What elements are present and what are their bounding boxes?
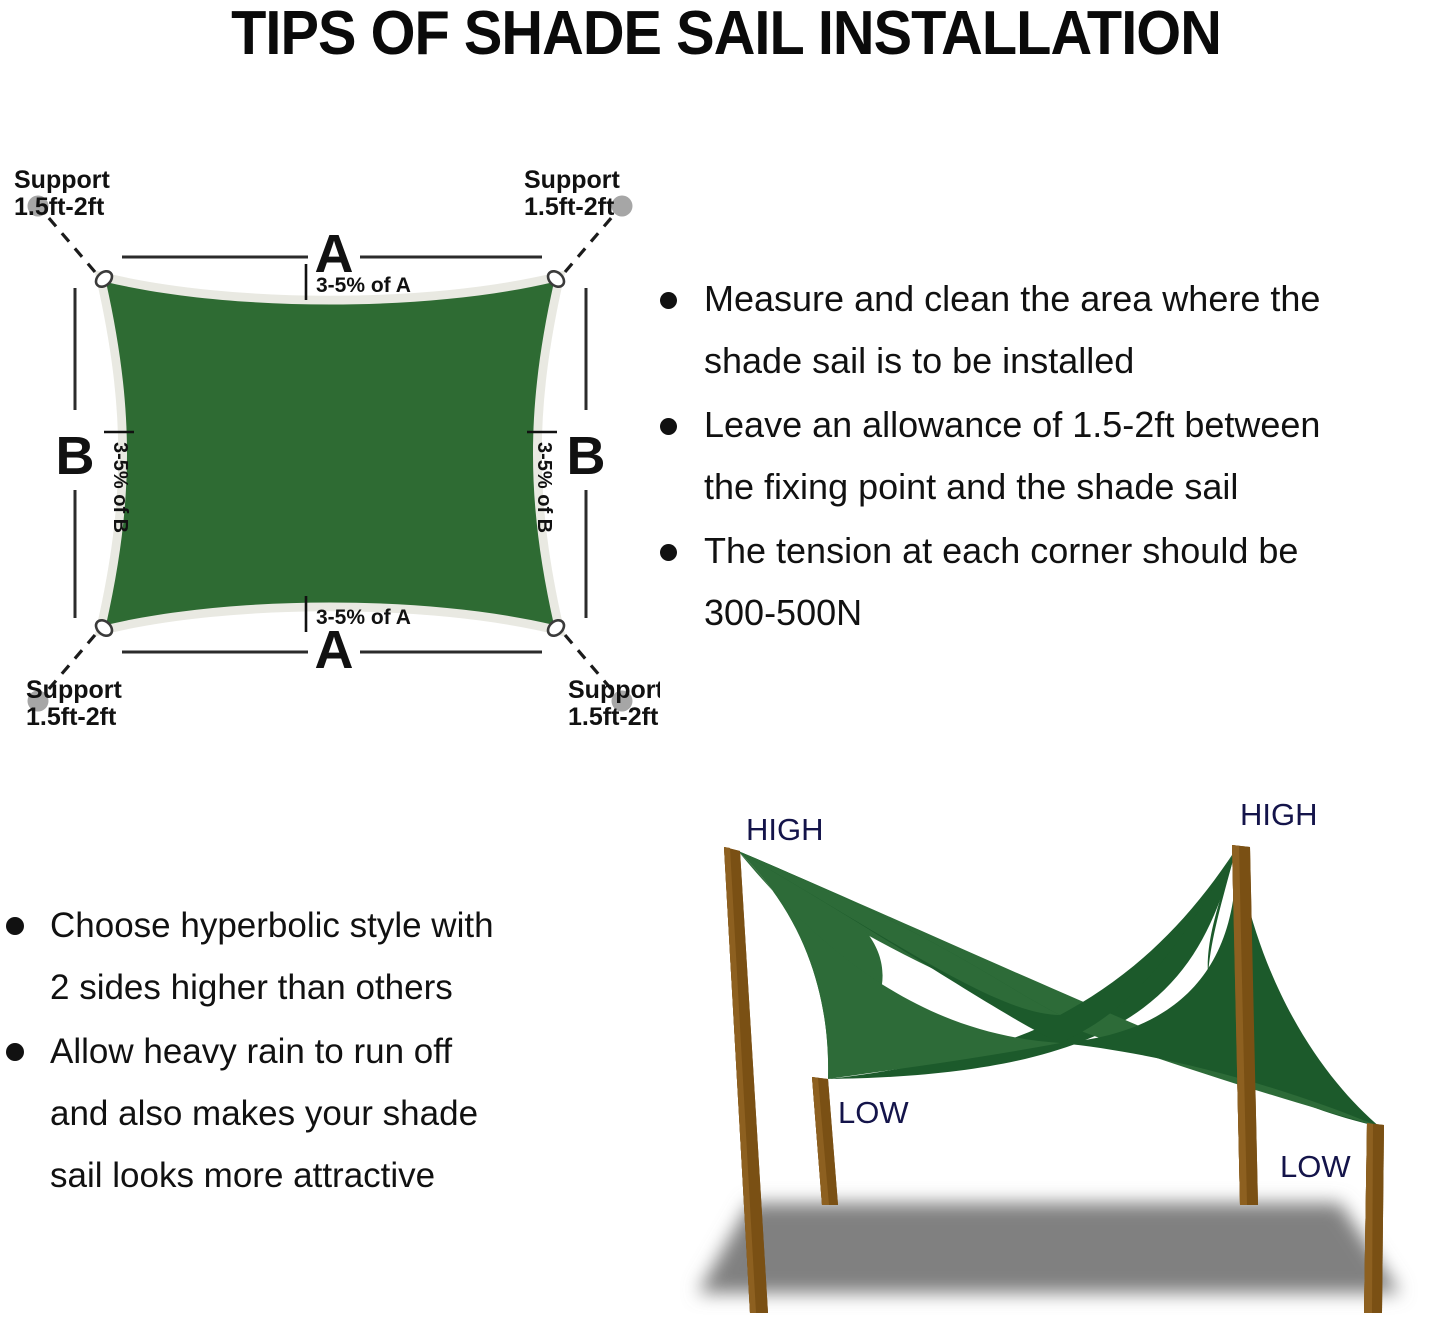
support-label-line1: Support (14, 166, 110, 194)
dimension-a-bottom: A (122, 620, 542, 680)
bullet-icon (660, 292, 677, 309)
support-label-line1: Support (568, 676, 660, 704)
dimension-b-left: B (56, 288, 95, 618)
shade-sail-dimension-diagram: Support 1.5ft-2ft Support 1.5ft-2ft Supp… (0, 160, 660, 730)
list-item: Allow heavy rain to run off and also mak… (0, 1021, 640, 1207)
post-low-left-front (812, 1077, 838, 1205)
support-label-line2: 1.5ft-2ft (26, 703, 117, 730)
installation-tips-list-top: Measure and clean the area where the sha… (652, 268, 1452, 646)
support-label-line1: Support (524, 166, 620, 194)
support-label-bottom-right: Support 1.5ft-2ft (568, 676, 660, 730)
infographic-page: TIPS OF SHADE SAIL INSTALLATION (0, 0, 1452, 1325)
list-item: Measure and clean the area where the sha… (652, 268, 1452, 392)
tip-line: shade sail is to be installed (704, 330, 1452, 392)
tip-line: Leave an allowance of 1.5-2ft between (704, 394, 1452, 456)
curve-note-top-label: 3-5% of A (316, 274, 411, 297)
dimension-b-right: B (567, 288, 606, 618)
tip-line: 300-500N (704, 582, 1452, 644)
list-item: Leave an allowance of 1.5-2ft between th… (652, 394, 1452, 518)
curve-note-right-label: 3-5% of B (533, 442, 555, 533)
sail-shape (106, 282, 554, 625)
hyperbolic-sail-diagram: HIGH HIGH LOW LOW (640, 785, 1452, 1325)
curve-note-left: 3-5% of B (104, 432, 134, 533)
tip-line: 2 sides higher than others (50, 957, 640, 1019)
support-label-line2: 1.5ft-2ft (14, 193, 105, 221)
support-label-line2: 1.5ft-2ft (524, 193, 615, 221)
page-title: TIPS OF SHADE SAIL INSTALLATION (51, 2, 1401, 66)
dimension-label-b-right: B (567, 426, 606, 486)
tip-line: Allow heavy rain to run off (50, 1021, 640, 1083)
label-high-left: HIGH (746, 812, 824, 847)
ground-shadow (698, 1203, 1400, 1293)
list-item: The tension at each corner should be 300… (652, 520, 1452, 644)
tip-line: and also makes your shade (50, 1083, 640, 1145)
bullet-icon (660, 544, 677, 561)
support-label-top-right: Support 1.5ft-2ft (524, 166, 620, 221)
support-label-top-left: Support 1.5ft-2ft (14, 166, 110, 221)
list-item: Choose hyperbolic style with 2 sides hig… (0, 895, 640, 1019)
support-label-bottom-left: Support 1.5ft-2ft (26, 676, 122, 730)
label-high-right: HIGH (1240, 797, 1318, 832)
curve-note-left-label: 3-5% of B (109, 442, 131, 533)
curve-note-bottom-label: 3-5% of A (316, 606, 411, 629)
support-label-line1: Support (26, 676, 122, 704)
tip-line: sail looks more attractive (50, 1145, 640, 1207)
dimension-label-a-bottom: A (315, 620, 354, 680)
bullet-icon (6, 1043, 24, 1061)
bullet-icon (660, 418, 677, 435)
post-low-right-front (1364, 1123, 1384, 1313)
support-dot-top-right (612, 196, 633, 217)
label-low-left: LOW (838, 1095, 909, 1130)
tip-line: The tension at each corner should be (704, 520, 1452, 582)
support-label-line2: 1.5ft-2ft (568, 703, 659, 730)
label-low-right: LOW (1280, 1149, 1351, 1184)
bullet-icon (6, 917, 24, 935)
tip-line: Measure and clean the area where the (704, 268, 1452, 330)
tip-line: the fixing point and the shade sail (704, 456, 1452, 518)
dimension-label-b-left: B (56, 426, 95, 486)
installation-tips-list-bottom: Choose hyperbolic style with 2 sides hig… (0, 895, 640, 1209)
tip-line: Choose hyperbolic style with (50, 895, 640, 957)
